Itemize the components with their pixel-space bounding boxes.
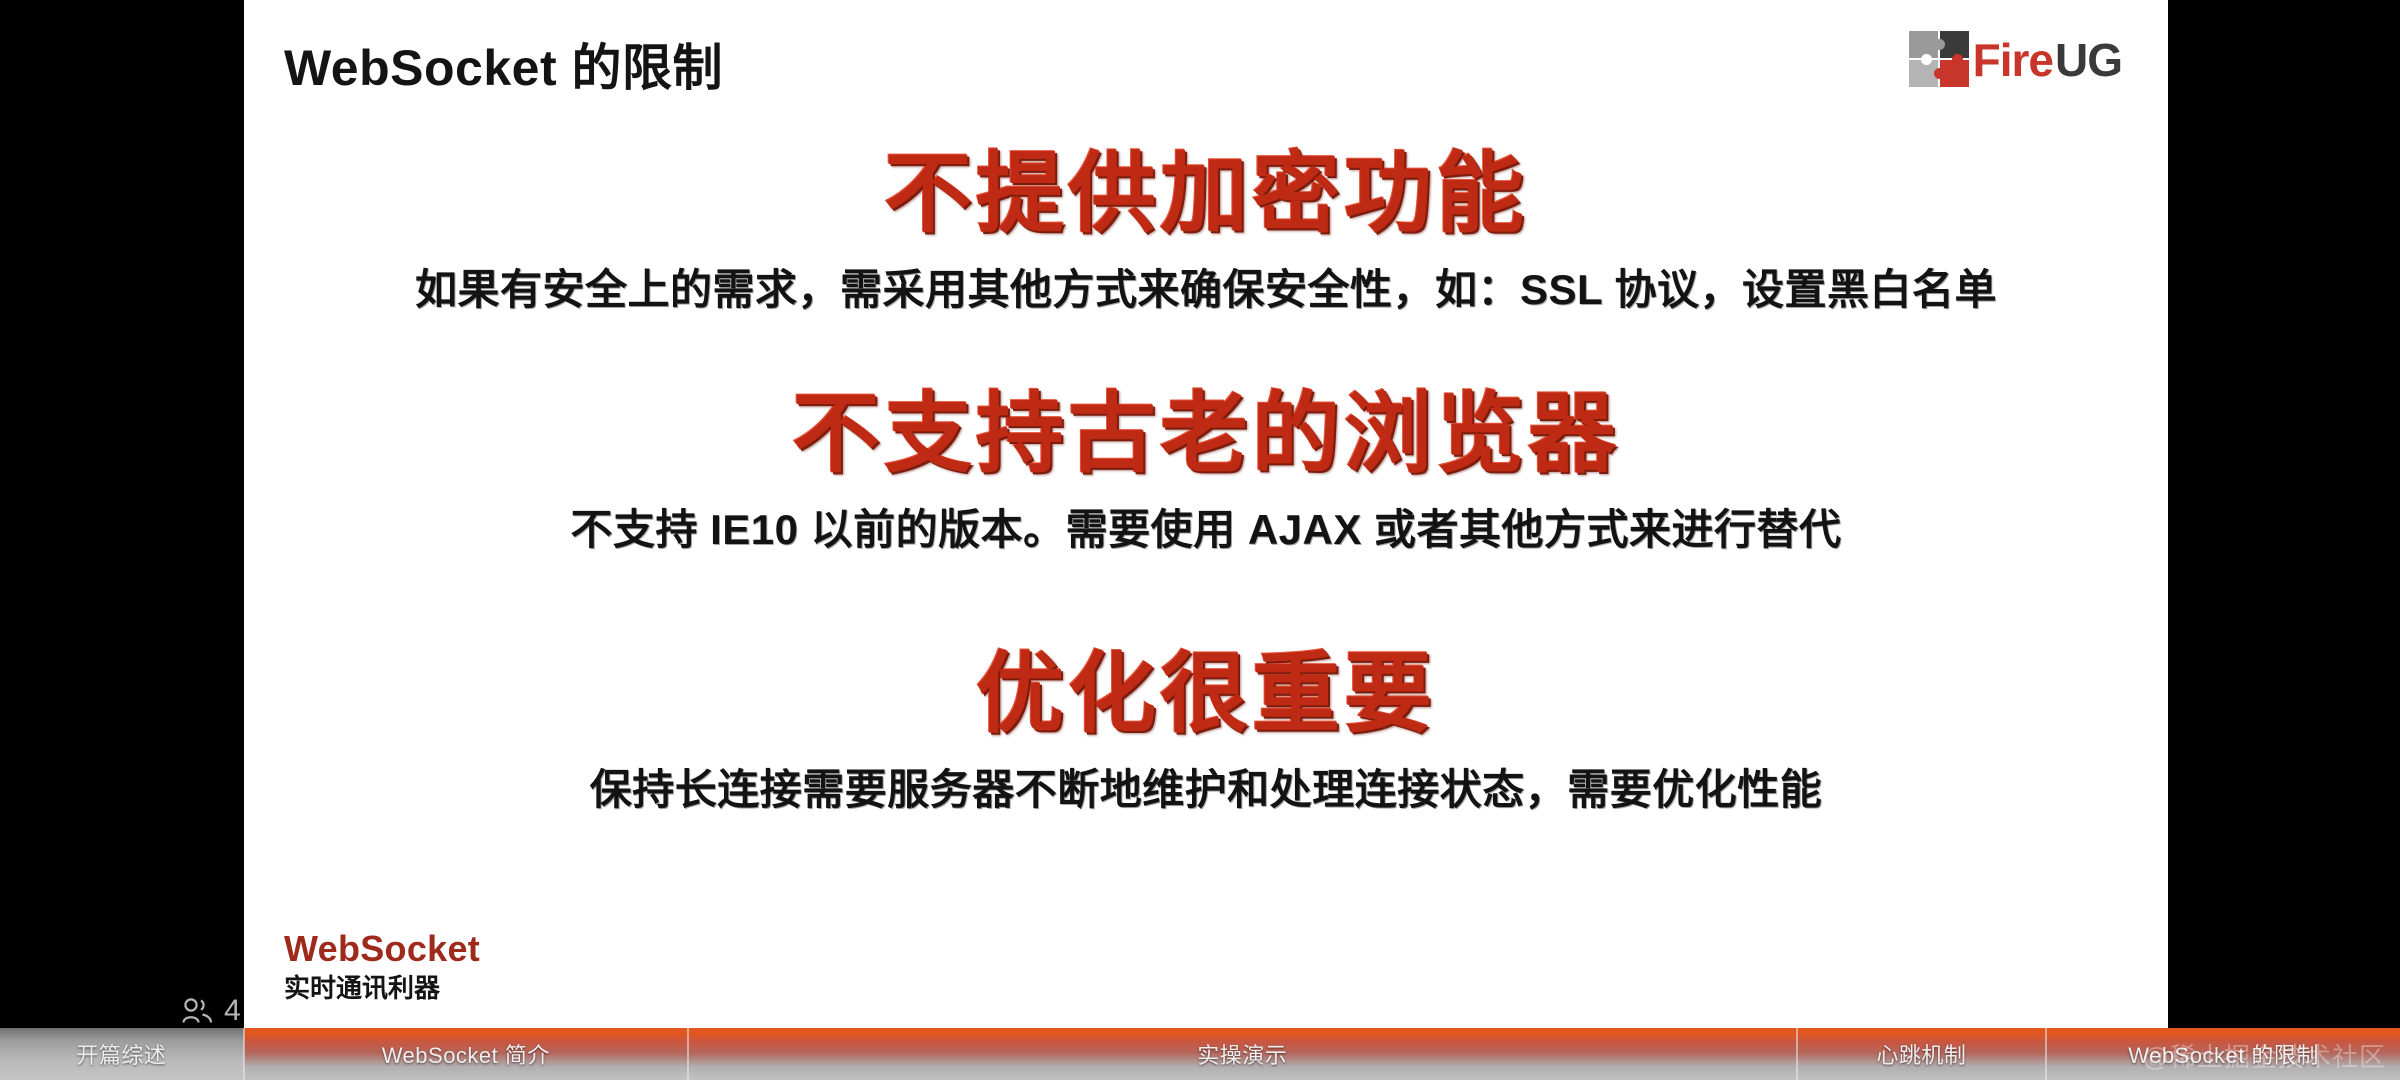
puzzle-icon (1909, 31, 1971, 89)
people-icon (180, 997, 214, 1025)
fireug-logo: FireUG (1909, 28, 2122, 92)
chapter-marker[interactable]: WebSocket 的限制 (2047, 1028, 2400, 1080)
chapter-label: 实操演示 (1197, 1038, 1287, 1070)
puzzle-knob-a (1934, 39, 1945, 50)
limitation-block-1: 不提供加密功能 如果有安全上的需求，需采用其他方式来确保安全性，如：SSL 协议… (244, 148, 2168, 317)
limitation-block-2: 不支持古老的浏览器 不支持 IE10 以前的版本。需要使用 AJAX 或者其他方… (244, 388, 2168, 557)
limitation-block-3: 优化很重要 保持长连接需要服务器不断地维护和处理连接状态，需要优化性能 (244, 648, 2168, 817)
limitation-heading: 优化很重要 (244, 648, 2168, 740)
limitation-subtitle: 保持长连接需要服务器不断地维护和处理连接状态，需要优化性能 (244, 756, 2168, 817)
chapter-label: 心跳机制 (1876, 1038, 1966, 1070)
screen: WebSocket 的限制 FireUG 不提供加密功能 如果有安全上的需求，需… (0, 0, 2400, 1080)
chapter-marker[interactable]: 心跳机制 (1798, 1028, 2048, 1080)
logo-text-primary: Fire (1973, 37, 2053, 83)
chapter-label: 开篇综述 (76, 1038, 166, 1070)
chapter-marker[interactable]: WebSocket 简介 (245, 1028, 689, 1080)
chapter-marker[interactable]: 实操演示 (689, 1028, 1798, 1080)
limitation-heading: 不支持古老的浏览器 (244, 388, 2168, 480)
viewer-count[interactable]: 4 (180, 994, 241, 1028)
puzzle-knob-c (1921, 54, 1932, 65)
footer-brand: WebSocket (284, 929, 480, 969)
video-progress-bar[interactable]: 开篇综述WebSocket 简介实操演示心跳机制WebSocket 的限制 (0, 1028, 2400, 1080)
footer-tagline: 实时通讯利器 (284, 973, 480, 1004)
logo-text-secondary: UG (2055, 37, 2122, 83)
chapter-marker[interactable]: 开篇综述 (0, 1028, 245, 1080)
slide-footer: WebSocket 实时通讯利器 (284, 929, 480, 1004)
presentation-slide: WebSocket 的限制 FireUG 不提供加密功能 如果有安全上的需求，需… (244, 0, 2168, 1028)
puzzle-knob-d (1952, 54, 1963, 65)
limitation-heading: 不提供加密功能 (244, 148, 2168, 240)
viewer-count-value: 4 (224, 994, 241, 1028)
slide-title: WebSocket 的限制 (284, 28, 723, 100)
limitation-subtitle: 不支持 IE10 以前的版本。需要使用 AJAX 或者其他方式来进行替代 (244, 496, 2168, 557)
chapter-label: WebSocket 简介 (382, 1038, 550, 1070)
limitation-subtitle: 如果有安全上的需求，需采用其他方式来确保安全性，如：SSL 协议，设置黑白名单 (244, 256, 2168, 317)
chapter-label: WebSocket 的限制 (2128, 1038, 2319, 1070)
puzzle-knob-b (1934, 68, 1945, 79)
